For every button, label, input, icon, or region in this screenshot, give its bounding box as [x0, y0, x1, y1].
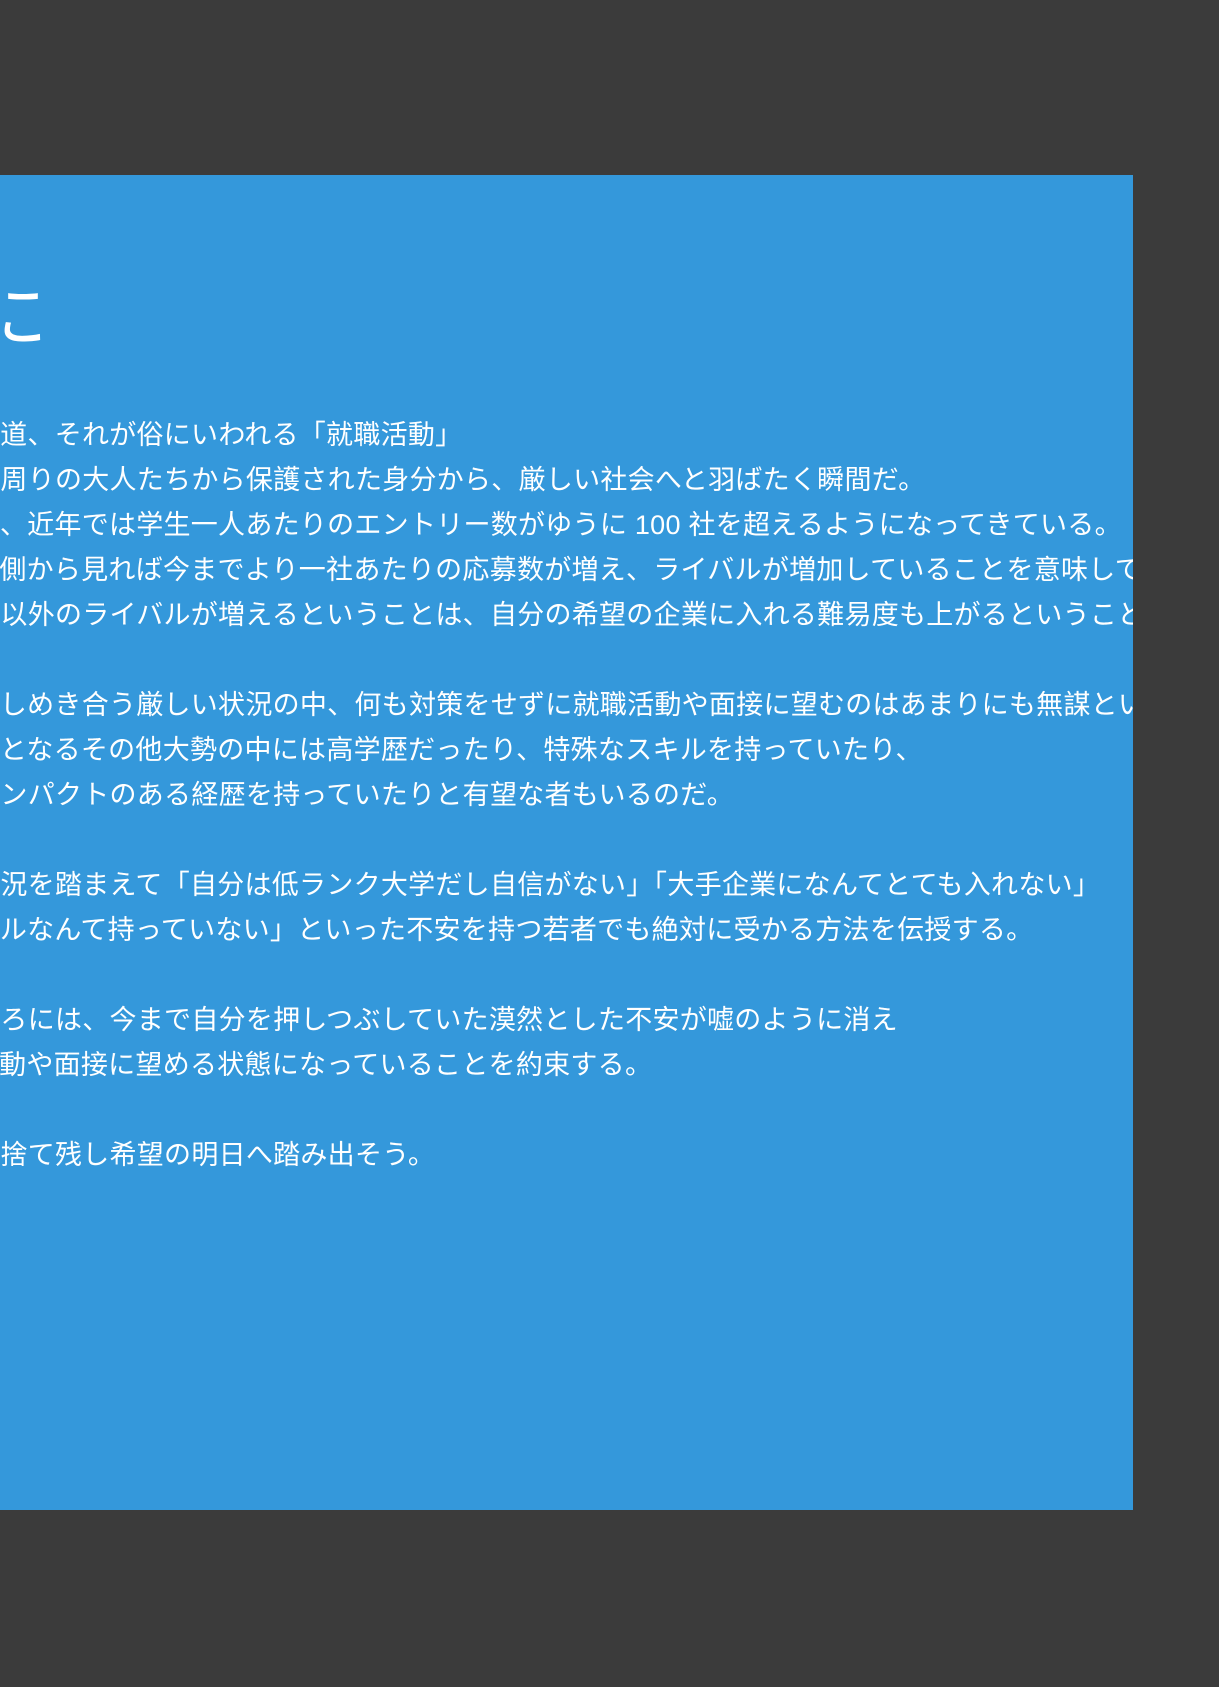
body-line: なぜなら、ライバルとなるその他大勢の中には高学歴だったり、特殊なスキルを持ってい… [0, 728, 1075, 773]
paragraph-4: 本書を読み終えたころには、今まで自分を押しつぶしていた漠然とした不安が嘘のように… [0, 998, 1075, 1088]
paragraph-1: 誰もが通るであろう道、それが俗にいわれる「就職活動」 大学生という今まで周りの大… [0, 413, 1075, 638]
slide-viewer: はじめに 誰もが通るであろう道、それが俗にいわれる「就職活動」 大学生という今ま… [0, 0, 1219, 1687]
paragraph-2: そんなライバルがひしめき合う厳しい状況の中、何も対策をせずに就職活動や面接に望む… [0, 683, 1075, 818]
body-line: 他とは違う強烈なインパクトのある経歴を持っていたりと有望な者もいるのだ。 [0, 773, 1075, 818]
paragraph-3: 本書では、そんな状況を踏まえて「自分は低ランク大学だし自信がない」「大手企業にな… [0, 863, 1075, 953]
body-line: 誰もが通るであろう道、それが俗にいわれる「就職活動」 [0, 413, 1075, 458]
body-line: 「人より秀でたスキルなんて持っていない」といった不安を持つ若者でも絶対に受かる方… [0, 908, 1075, 953]
slide-title: はじめに [0, 275, 49, 361]
body-line: 自信を持って就職活動や面接に望める状態になっていることを約束する。 [0, 1043, 1075, 1088]
paragraph-5: さあ、不安な今日を捨て残し希望の明日へ踏み出そう。 [0, 1133, 1075, 1178]
body-line: 本書を読み終えたころには、今まで自分を押しつぶしていた漠然とした不安が嘘のように… [0, 998, 1075, 1043]
slide-body: 誰もが通るであろう道、それが俗にいわれる「就職活動」 大学生という今まで周りの大… [0, 413, 1075, 1178]
body-line: さあ、不安な今日を捨て残し希望の明日へ踏み出そう。 [0, 1133, 1075, 1178]
body-line: そんなライバルがひしめき合う厳しい状況の中、何も対策をせずに就職活動や面接に望む… [0, 683, 1075, 728]
slide-content: はじめに 誰もが通るであろう道、それが俗にいわれる「就職活動」 大学生という今ま… [0, 175, 1133, 1510]
body-line: これはつまり、企業側から見れば今までより一社あたりの応募数が増え、ライバルが増加… [0, 548, 1075, 593]
body-line: 本書では、そんな状況を踏まえて「自分は低ランク大学だし自信がない」「大手企業にな… [0, 863, 1075, 908]
body-line: 大学生という今まで周りの大人たちから保護された身分から、厳しい社会へと羽ばたく瞬… [0, 458, 1075, 503]
presentation-slide[interactable]: はじめに 誰もが通るであろう道、それが俗にいわれる「就職活動」 大学生という今ま… [0, 175, 1133, 1510]
body-line: 言い換えれば、自分以外のライバルが増えるということは、自分の希望の企業に入れる難… [0, 593, 1075, 638]
body-line: そんな就職活動だが、近年では学生一人あたりのエントリー数がゆうに 100 社を超… [0, 503, 1075, 548]
